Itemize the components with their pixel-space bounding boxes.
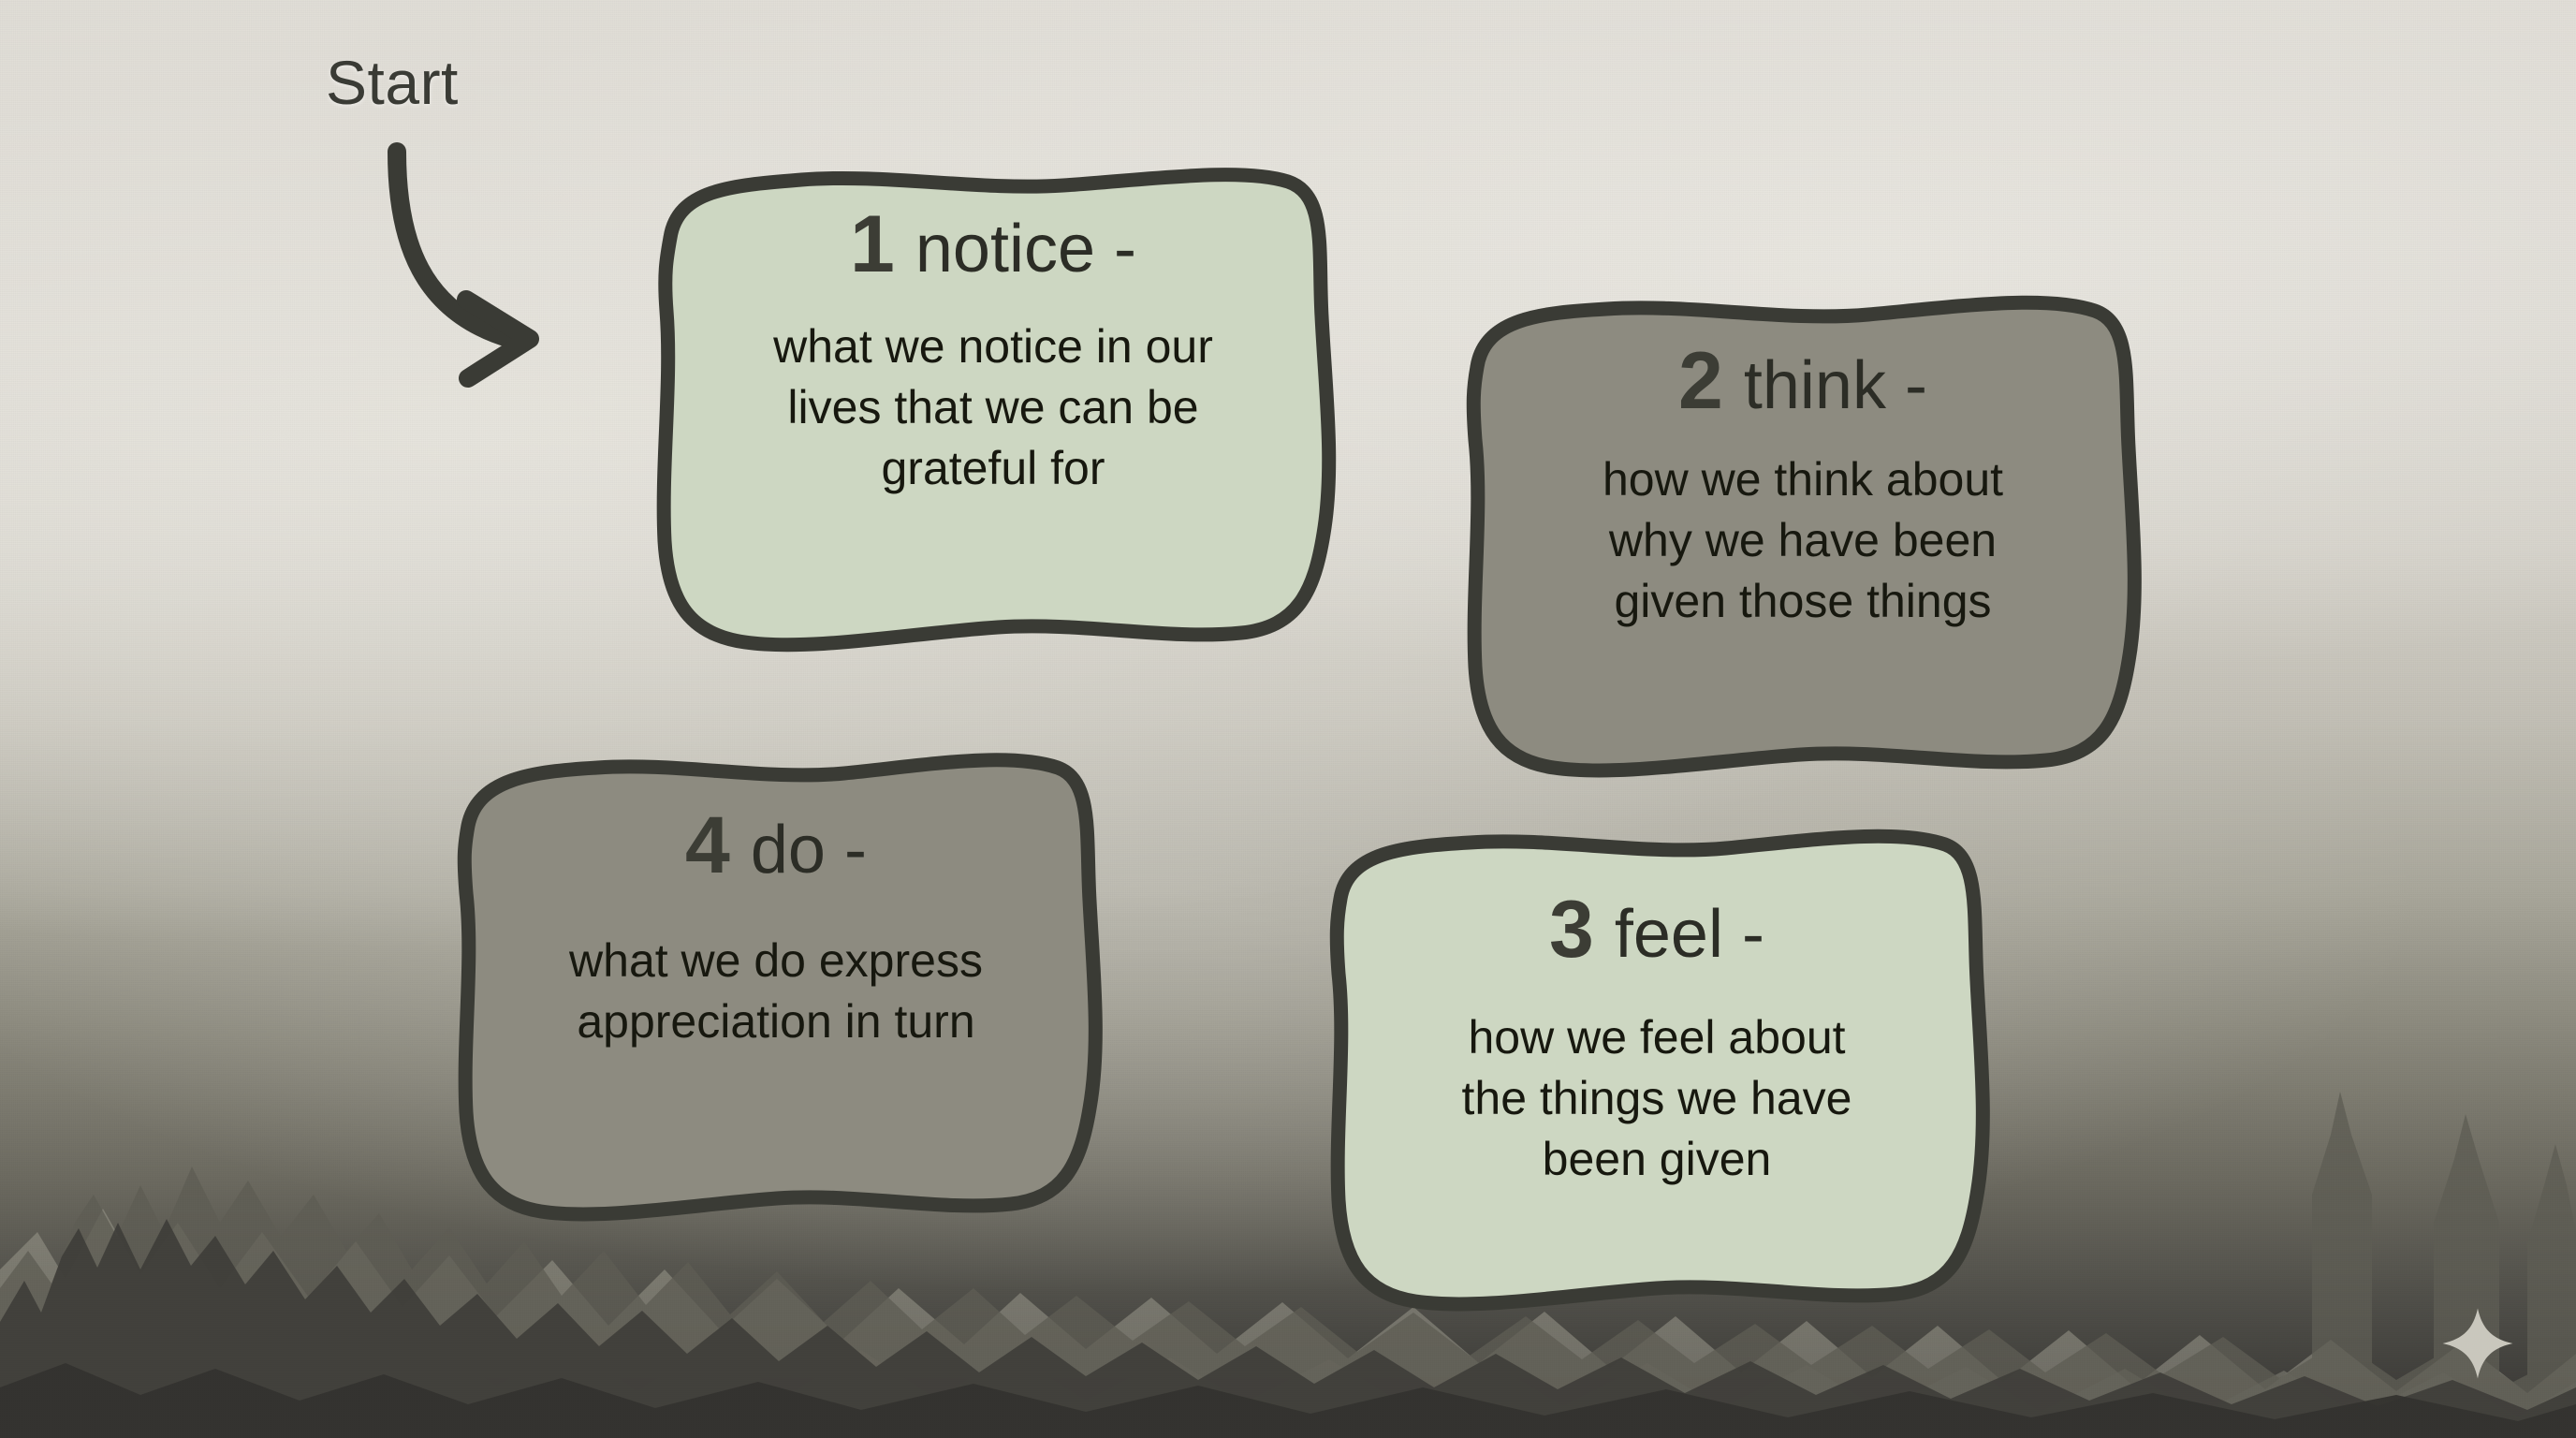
card-feel-heading: 3 feel -: [1365, 889, 1949, 970]
card-do-number: 4: [685, 805, 730, 886]
diagram-canvas: Start 1 notice - what we notice in our l…: [0, 0, 2576, 1438]
card-think-number: 2: [1678, 341, 1723, 421]
card-do-body: what we do express appreciation in turn: [489, 931, 1063, 1052]
card-feel-body: how we feel about the things we have bee…: [1365, 1007, 1949, 1190]
card-think-title: think -: [1744, 352, 1927, 419]
card-feel-title: feel -: [1615, 901, 1764, 968]
card-feel[interactable]: 3 feel - how we feel about the things we…: [1316, 816, 1998, 1326]
card-notice-number: 1: [850, 204, 895, 285]
card-notice-heading: 1 notice -: [691, 204, 1295, 285]
sparkle-icon: [2441, 1307, 2514, 1380]
curved-arrow-icon: [356, 139, 655, 410]
card-do-title: do -: [751, 816, 867, 884]
card-think-body: how we think about why we have been give…: [1505, 449, 2100, 632]
card-think[interactable]: 2 think - how we think about why we have…: [1456, 281, 2149, 792]
card-notice-body: what we notice in our lives that we can …: [691, 316, 1295, 499]
card-do-heading: 4 do -: [489, 805, 1063, 886]
card-feel-number: 3: [1549, 889, 1594, 970]
start-label: Start: [326, 47, 459, 118]
card-think-heading: 2 think -: [1505, 341, 2100, 421]
card-notice[interactable]: 1 notice - what we notice in our lives t…: [642, 148, 1344, 668]
card-do[interactable]: 4 do - what we do express appreciation i…: [440, 740, 1112, 1234]
card-notice-title: notice -: [915, 215, 1136, 283]
